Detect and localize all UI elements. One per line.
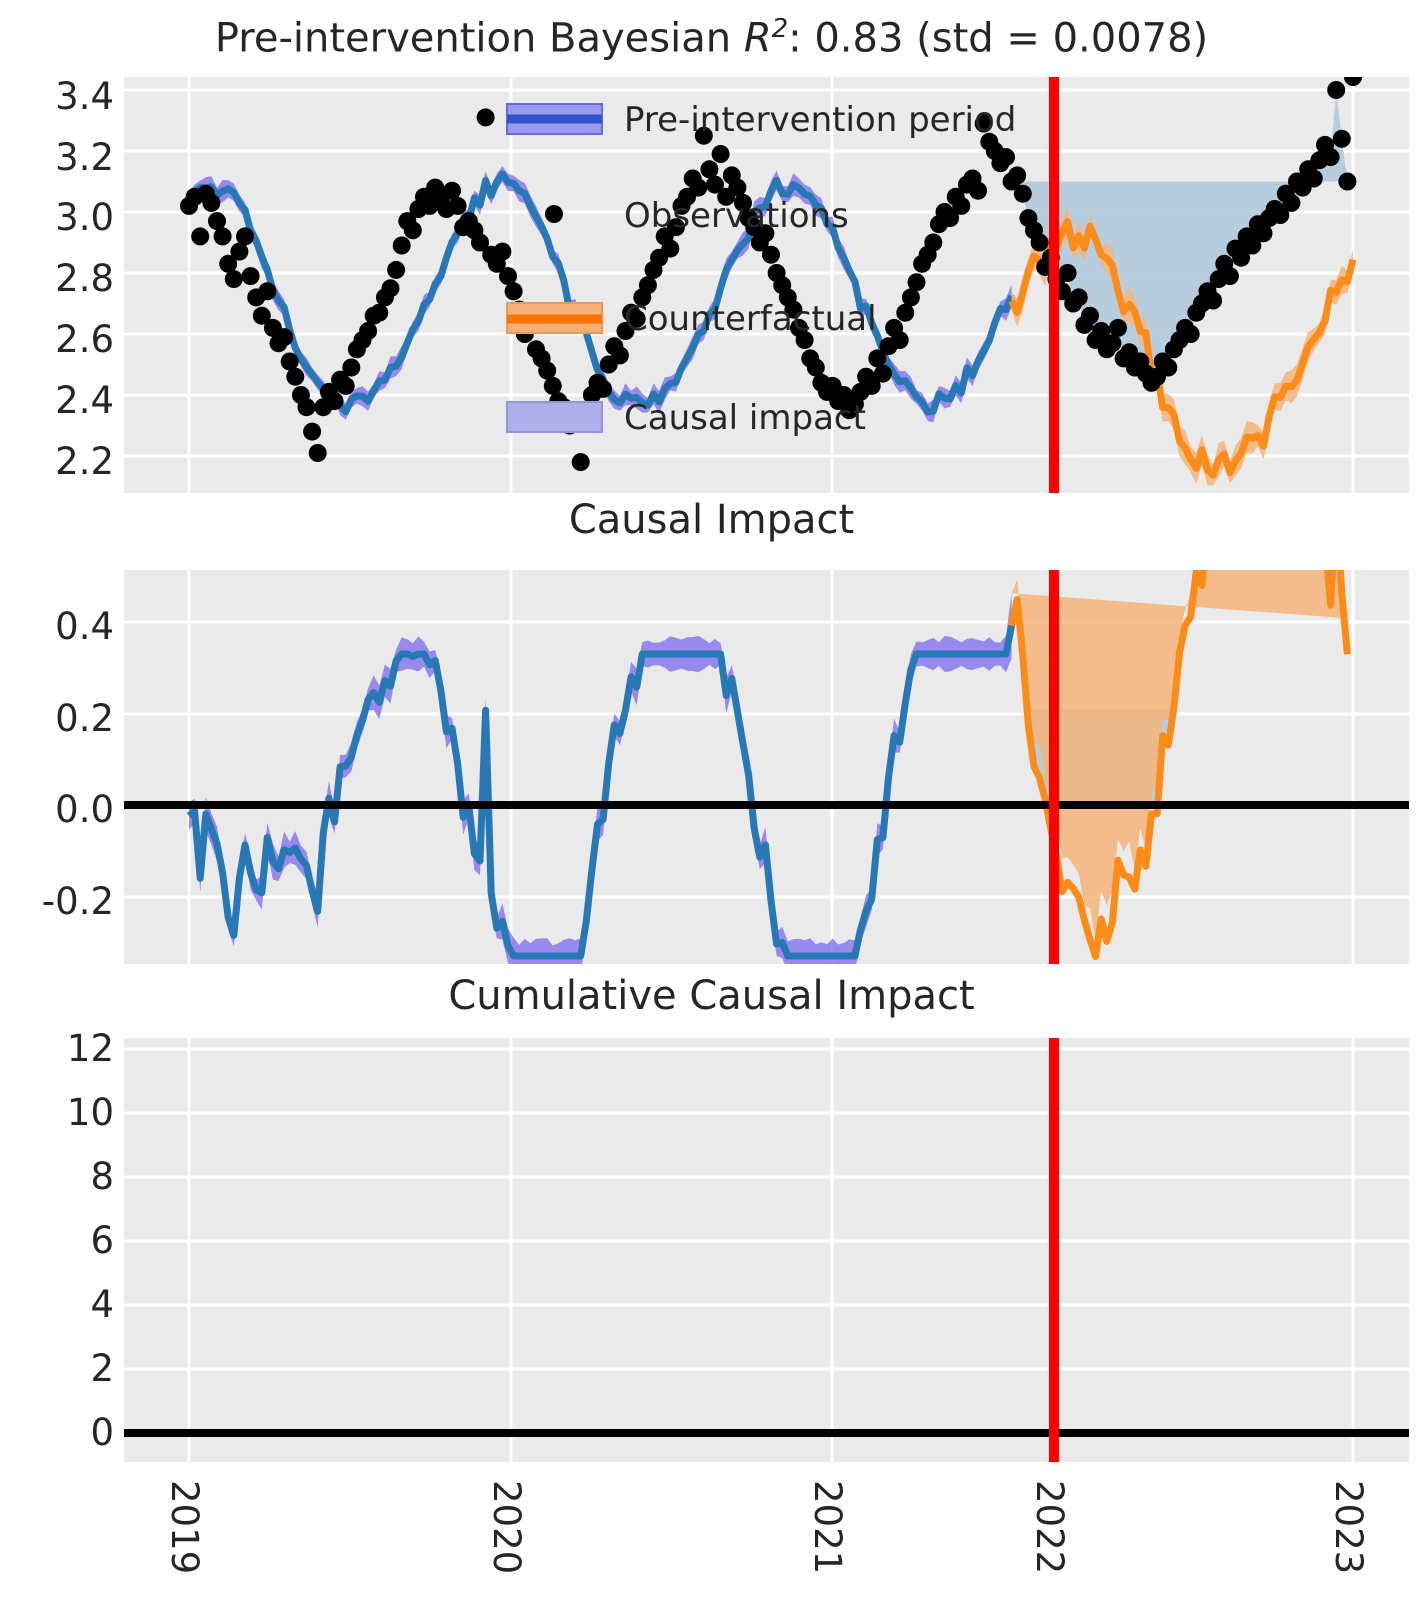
panel-1-title-r: R (744, 15, 772, 61)
observation-point (326, 392, 344, 410)
observation-point (891, 331, 909, 349)
observation-point (700, 160, 718, 178)
observation-point (477, 108, 495, 126)
observation-point (538, 362, 556, 380)
observation-point (505, 282, 523, 300)
observation-point (208, 212, 226, 230)
observation-point (689, 179, 707, 197)
observation-point (1204, 292, 1222, 310)
panel-1-ytick-2.4: 2.4 (24, 379, 114, 422)
observation-point (807, 359, 825, 377)
observation-point (309, 444, 327, 462)
observation-point (337, 377, 355, 395)
panel-3-ytick-12: 12 (24, 1027, 114, 1070)
panel-3-ytick-2: 2 (24, 1347, 114, 1390)
observation-point (242, 267, 260, 285)
observation-point (449, 197, 467, 215)
panel-2-ytick-0.2: 0.2 (24, 697, 114, 740)
observation-point (611, 346, 629, 364)
legend-label-counterfactual: Counterfactual (624, 299, 877, 339)
xtick-2023: 2023 (1327, 1480, 1370, 1574)
intervention-line (1049, 77, 1059, 493)
observation-point (382, 279, 400, 297)
observation-point (342, 359, 360, 377)
panel-2-plot (124, 570, 1409, 964)
panel-3-ytick-4: 4 (24, 1283, 114, 1326)
observation-point (908, 273, 926, 291)
observation-point (1333, 130, 1351, 148)
legend-swatch-counterfactual (507, 303, 602, 333)
legend-swatch-pre-intervention (507, 104, 602, 134)
panel-1-ytick-3.4: 3.4 (24, 75, 114, 118)
panel-1-ytick-2.8: 2.8 (24, 257, 114, 300)
observation-point (1182, 325, 1200, 343)
panel-3-ytick-10: 10 (24, 1091, 114, 1134)
observation-point (1282, 194, 1300, 212)
legend-swatch-observations (545, 205, 563, 223)
xtick-2022: 2022 (1028, 1480, 1071, 1574)
panel-1-title: Pre-intervention Bayesian R2: 0.83 (std … (0, 14, 1423, 61)
panel-3-ytick-0: 0 (24, 1411, 114, 1454)
panel-1-title-exponent: 2 (772, 14, 789, 44)
panel-1-ytick-3.2: 3.2 (24, 136, 114, 179)
panel-2-ytick-0.4: 0.4 (24, 605, 114, 648)
panel-3-ytick-6: 6 (24, 1219, 114, 1262)
observation-point (1221, 267, 1239, 285)
intervention-line (1049, 570, 1059, 964)
legend-label-observations: Observations (624, 196, 849, 236)
observation-point (1008, 166, 1026, 184)
observation-point (393, 237, 411, 255)
observation-point (728, 179, 746, 197)
observation-point (493, 243, 511, 261)
observation-point (1159, 359, 1177, 377)
observation-point (1070, 288, 1088, 306)
observation-point (1081, 307, 1099, 325)
legend-swatch-causal-impact (507, 402, 602, 432)
observation-point (258, 282, 276, 300)
observation-point (594, 380, 612, 398)
observation-point (572, 453, 590, 471)
observation-point (225, 270, 243, 288)
panel-3-background (124, 1038, 1409, 1462)
observation-point (1109, 319, 1127, 337)
observation-point (1014, 185, 1032, 203)
observation-point (298, 398, 316, 416)
panel-1-ytick-2.6: 2.6 (24, 318, 114, 361)
observation-point (214, 227, 232, 245)
observation-point (969, 182, 987, 200)
panel-1-ytick-2.2: 2.2 (24, 440, 114, 483)
panel-2-ytick-0.0: 0.0 (24, 788, 114, 831)
intervention-line (1049, 1038, 1059, 1462)
observation-point (275, 328, 293, 346)
observation-point (404, 221, 422, 239)
observation-point (1031, 234, 1049, 252)
observation-point (661, 240, 679, 258)
observation-point (1103, 334, 1121, 352)
observation-point (359, 322, 377, 340)
panel-1-ytick-3.0: 3.0 (24, 196, 114, 239)
observation-point (896, 304, 914, 322)
observation-point (639, 276, 657, 294)
observation-point (191, 227, 209, 245)
observation-point (387, 261, 405, 279)
observation-point (236, 227, 254, 245)
panel-1-title-prefix: Pre-intervention Bayesian (215, 15, 744, 61)
observation-point (286, 368, 304, 386)
observation-point (1338, 173, 1356, 191)
observation-point (762, 246, 780, 264)
observation-point (1059, 264, 1077, 282)
panel-2-title: Causal Impact (0, 497, 1423, 543)
observation-point (924, 234, 942, 252)
xtick-2019: 2019 (163, 1480, 206, 1574)
panel-2-ytick--0.2: -0.2 (10, 880, 114, 923)
observation-point (303, 423, 321, 441)
xtick-2020: 2020 (485, 1480, 528, 1574)
panel-3-plot (124, 1038, 1409, 1462)
xtick-2021: 2021 (806, 1480, 849, 1574)
panel-3-ytick-8: 8 (24, 1155, 114, 1198)
panel-1-plot: Pre-intervention period Observations Cou… (124, 77, 1409, 493)
observation-point (997, 148, 1015, 166)
observation-point (202, 194, 220, 212)
legend-label-causal-impact: Causal impact (624, 398, 866, 438)
observation-point (952, 197, 970, 215)
panel-1-title-suffix: : 0.83 (std = 0.0078) (788, 15, 1208, 61)
observation-point (1322, 148, 1340, 166)
observation-point (370, 304, 388, 322)
observation-point (1305, 170, 1323, 188)
observation-point (874, 365, 892, 383)
legend-label-pre-intervention-period: Pre-intervention period (624, 100, 1016, 140)
observation-point (1327, 81, 1345, 99)
observation-point (712, 145, 730, 163)
panel-3-title: Cumulative Causal Impact (0, 973, 1423, 1019)
